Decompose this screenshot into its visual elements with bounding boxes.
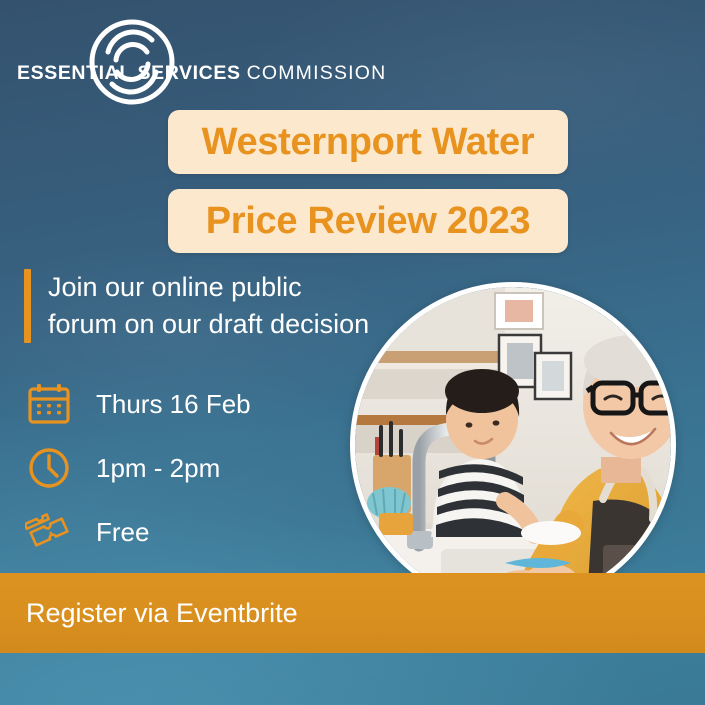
subtitle-block: Join our online public forum on our draf…: [24, 269, 369, 343]
calendar-icon: [24, 379, 74, 429]
detail-label-date: Thurs 16 Feb: [96, 389, 251, 420]
register-cta-bar[interactable]: Register via Eventbrite: [0, 573, 705, 653]
subtitle-accent-bar: [24, 269, 31, 343]
event-photo: [350, 282, 676, 608]
detail-label-time: 1pm - 2pm: [96, 453, 220, 484]
title-banner-line1: Westernport Water: [168, 110, 568, 174]
subtitle-line-2: forum on our draft decision: [48, 306, 369, 343]
logo-wordmark-bold: ESSENTIAL SERVICES: [17, 62, 241, 84]
title-banner-line2: Price Review 2023: [168, 189, 568, 253]
register-cta-label: Register via Eventbrite: [26, 598, 298, 629]
clock-icon: [24, 443, 74, 493]
logo-wordmark: ESSENTIAL SERVICES COMMISSION: [17, 62, 386, 85]
subtitle-line-1: Join our online public: [48, 269, 369, 306]
poster-canvas: ESSENTIAL SERVICES COMMISSION Westernpor…: [0, 0, 705, 705]
detail-row-time: 1pm - 2pm: [24, 436, 354, 500]
essential-services-commission-logo: ESSENTIAL SERVICES COMMISSION: [14, 16, 314, 108]
detail-row-price: Free: [24, 500, 354, 564]
detail-label-price: Free: [96, 517, 149, 548]
subtitle-text: Join our online public forum on our draf…: [48, 269, 369, 343]
detail-row-date: Thurs 16 Feb: [24, 372, 354, 436]
logo-wordmark-light: COMMISSION: [247, 62, 387, 84]
ticket-icon: [24, 507, 74, 557]
event-details-list: Thurs 16 Feb 1pm - 2pm: [24, 372, 354, 564]
